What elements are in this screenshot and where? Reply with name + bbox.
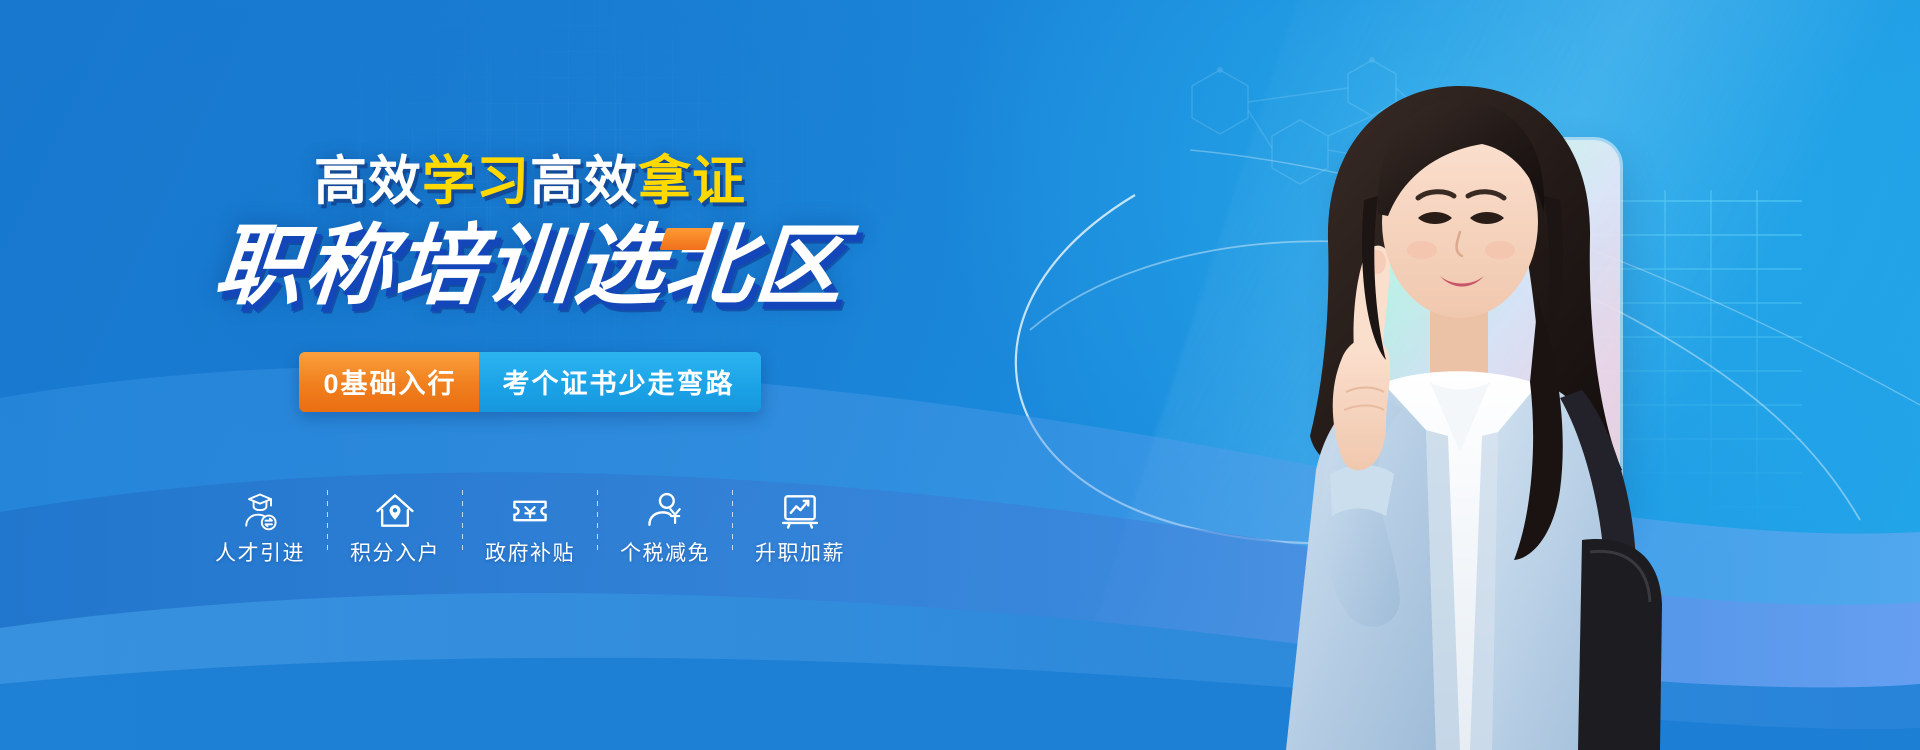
headline-main: 职称培训选北区 <box>0 222 1064 310</box>
ticket-yuan-icon <box>507 488 553 534</box>
headline-sub-part-2: 学习 <box>422 152 530 211</box>
badge-primary[interactable]: 0基础入行 <box>299 352 478 412</box>
model-composition <box>1130 0 1770 750</box>
feature-label: 人才引进 <box>215 543 305 564</box>
orange-tick-accent <box>659 228 712 250</box>
feature-label: 积分入户 <box>350 543 440 564</box>
badge-group[interactable]: 0基础入行 考个证书少走弯路 <box>299 352 760 412</box>
chart-board-icon <box>777 488 823 534</box>
headline-subtitle: 高效学习高效拿证 <box>0 155 1060 208</box>
feature-label: 个税减免 <box>620 543 710 564</box>
feature-item-points-residency[interactable]: 积分入户 <box>328 488 462 564</box>
tagline-badges: 0基础入行 考个证书少走弯路 <box>0 352 1060 412</box>
banner-copy: 高效学习高效拿证 职称培训选北区 0基础入行 考个证书少走弯路 <box>0 0 1060 750</box>
person-yuan-icon <box>642 488 688 534</box>
feature-label: 升职加薪 <box>755 543 845 564</box>
feature-item-promotion-raise[interactable]: 升职加薪 <box>733 488 867 564</box>
feature-item-tax-relief[interactable]: 个税减免 <box>598 488 732 564</box>
house-pin-icon <box>372 488 418 534</box>
promo-banner: 高效学习高效拿证 职称培训选北区 0基础入行 考个证书少走弯路 <box>0 0 1920 750</box>
model-photo <box>1130 0 1770 750</box>
headline-sub-part-1: 高效 <box>314 152 422 211</box>
badge-secondary[interactable]: 考个证书少走弯路 <box>479 352 761 412</box>
headline-sub-part-3: 高效 <box>530 152 638 211</box>
feature-list: 人才引进 积分入户 <box>0 488 1060 564</box>
headline-sub-part-4: 拿证 <box>638 152 746 211</box>
feature-label: 政府补贴 <box>485 543 575 564</box>
graduate-person-icon <box>237 488 283 534</box>
feature-item-talent-intro[interactable]: 人才引进 <box>193 488 327 564</box>
feature-item-gov-subsidy[interactable]: 政府补贴 <box>463 488 597 564</box>
